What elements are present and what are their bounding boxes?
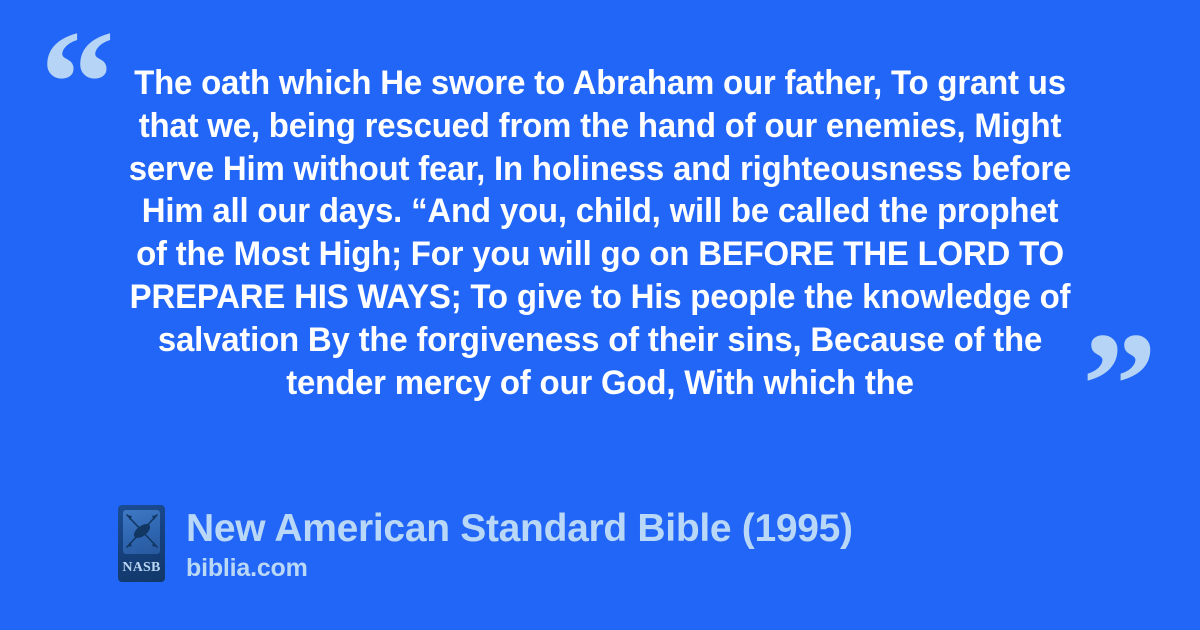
quote-line: that we, being rescued from the hand of …	[123, 105, 1078, 148]
quote-line: serve Him without fear, In holiness and …	[123, 148, 1078, 191]
nasb-crossed-pen-icon	[121, 507, 163, 557]
closing-quote-mark-icon: ”	[1082, 310, 1155, 460]
source-website-label[interactable]: biblia.com	[186, 553, 853, 583]
quote-line: tender mercy of our God, With which the	[123, 362, 1078, 405]
quote-text-block: The oath which He swore to Abraham our f…	[100, 62, 1100, 404]
quote-line: PREPARE HIS WAYS; To give to His people …	[123, 276, 1078, 319]
quote-line: The oath which He swore to Abraham our f…	[123, 62, 1078, 105]
attribution-footer: NASB New American Standard Bible (1995) …	[118, 505, 853, 583]
quote-line: Him all our days. “And you, child, will …	[123, 190, 1078, 233]
attribution-text-group: New American Standard Bible (1995) bibli…	[186, 505, 853, 583]
verse-quote-card: “ The oath which He swore to Abraham our…	[0, 0, 1200, 630]
nasb-logo: NASB	[118, 505, 165, 582]
nasb-wordmark: NASB	[118, 560, 165, 576]
quote-line: salvation By the forgiveness of their si…	[123, 319, 1078, 362]
bible-version-title: New American Standard Bible (1995)	[186, 507, 853, 551]
quote-line: of the Most High; For you will go on BEF…	[123, 233, 1078, 276]
